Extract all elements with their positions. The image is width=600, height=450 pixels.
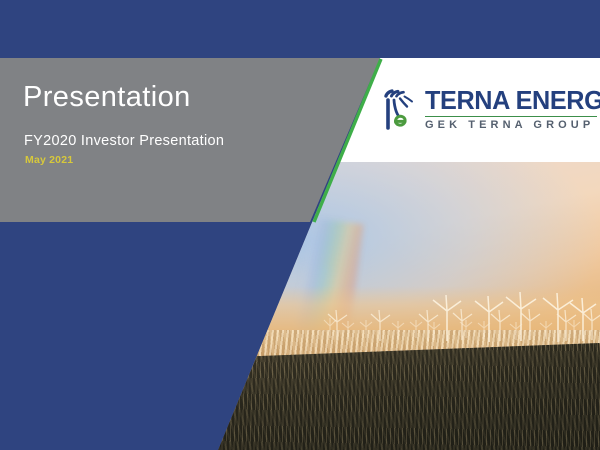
terna-energy-logo: TERNA ENERGY GEK TERNA GROUP	[378, 84, 600, 134]
slide-date: May 2021	[25, 154, 73, 166]
logo-group-name: GEK TERNA GROUP	[425, 120, 600, 131]
top-navy-band	[0, 0, 600, 58]
logo-text-block: TERNA ENERGY GEK TERNA GROUP	[425, 87, 600, 132]
slide-subtitle: FY2020 Investor Presentation	[24, 133, 224, 149]
green-diagonal-accent	[312, 58, 384, 223]
presentation-slide: TERNA ENERGY GEK TERNA GROUP Presentatio…	[0, 0, 600, 450]
slide-title: Presentation	[23, 82, 191, 112]
logo-company-name: TERNA ENERGY	[425, 87, 600, 113]
terna-tree-leaf-icon	[378, 84, 418, 134]
logo-green-rule	[425, 116, 597, 118]
